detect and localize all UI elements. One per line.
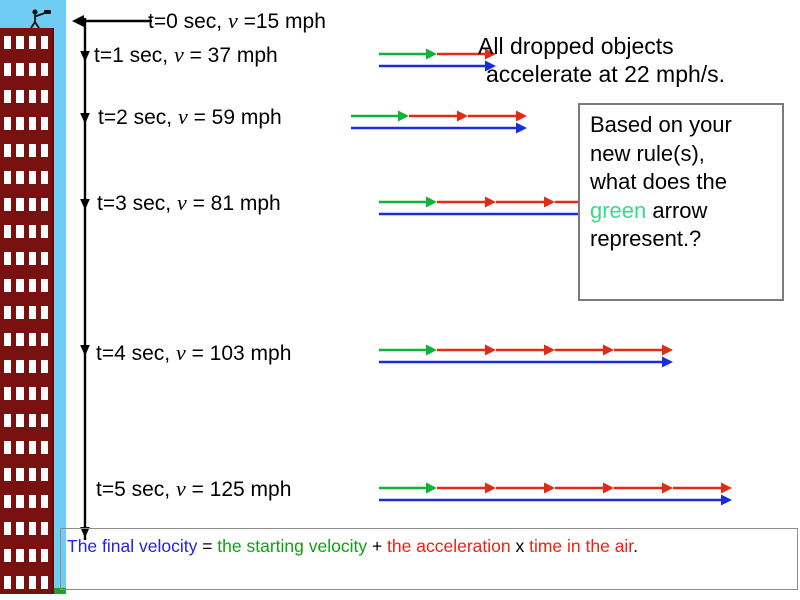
time-label-t4: t=4 sec, v = 103 mph (96, 342, 291, 364)
red-acceleration-arrow-1 (437, 345, 496, 356)
building-window (4, 360, 11, 373)
building-window (4, 495, 11, 508)
t2-velocity-text: = 59 mph (188, 106, 282, 129)
building-window (29, 441, 36, 454)
building-window (4, 306, 11, 319)
red-acceleration-arrow-4 (614, 483, 673, 494)
building-window (16, 225, 23, 238)
building-window (41, 522, 48, 535)
green-starting-velocity-arrow (351, 111, 409, 122)
caption-time-in-air: time in the air (529, 536, 633, 556)
building-window (41, 63, 48, 76)
building-window (41, 306, 48, 319)
building-window (16, 171, 23, 184)
t0-velocity-text: =15 mph (238, 10, 326, 33)
green-starting-velocity-arrow (379, 483, 437, 494)
building-windows (0, 32, 52, 594)
building-window (41, 333, 48, 346)
building-window (16, 63, 23, 76)
building-window (41, 144, 48, 157)
t5-time-text: t=5 sec, (96, 478, 170, 501)
building-window (29, 522, 36, 535)
t5-velocity-symbol: v (176, 476, 186, 501)
building-window (29, 333, 36, 346)
red-acceleration-arrow-2 (496, 197, 555, 208)
t3-velocity-text: = 81 mph (187, 192, 281, 215)
question-line-4: green arrow (590, 197, 778, 226)
building-window (16, 414, 23, 427)
t4-velocity-text: = 103 mph (186, 342, 292, 365)
red-acceleration-arrow-4 (614, 345, 673, 356)
green-starting-velocity-arrow (379, 345, 437, 356)
time-label-t0: t=0 sec, v =15 mph (148, 10, 326, 32)
building-window (41, 36, 48, 49)
headline-line-2: accelerate at 22 mph/s. (478, 60, 796, 88)
red-acceleration-arrow-3 (555, 345, 614, 356)
caption-equals: = (197, 536, 217, 556)
building-window (29, 90, 36, 103)
building-window (16, 495, 23, 508)
building-window (29, 144, 36, 157)
vector-arrows-t5 (378, 480, 738, 506)
building-window (41, 252, 48, 265)
building-window (16, 279, 23, 292)
t2-time-text: t=2 sec, (98, 106, 172, 129)
building-window (16, 387, 23, 400)
stick-figure-on-roof-icon (26, 6, 52, 30)
building-window (29, 387, 36, 400)
vector-arrows-t2 (350, 108, 533, 134)
building-window (16, 36, 23, 49)
building-window (29, 468, 36, 481)
building-window (4, 576, 11, 589)
building-window (29, 117, 36, 130)
question-box: Based on your new rule(s), what does the… (578, 103, 784, 301)
building-window (16, 306, 23, 319)
building-window (41, 468, 48, 481)
building-window (4, 279, 11, 292)
building-window (16, 198, 23, 211)
caption-starting-velocity: the starting velocity (217, 536, 367, 556)
building-window (4, 387, 11, 400)
building-window (29, 360, 36, 373)
vector-arrows-t4 (378, 342, 679, 368)
red-acceleration-arrow-5 (673, 483, 732, 494)
building-window (29, 198, 36, 211)
t1-velocity-text: = 37 mph (184, 44, 278, 67)
building-window (4, 522, 11, 535)
building-window (29, 576, 36, 589)
building-window (41, 549, 48, 562)
vector-row-t4 (378, 342, 679, 368)
building-window (41, 576, 48, 589)
fall-timeline-axis (78, 18, 96, 540)
building-window (41, 117, 48, 130)
red-acceleration-arrow-2 (496, 345, 555, 356)
t1-time-text: t=1 sec, (94, 44, 168, 67)
slide-canvas: t=0 sec, v =15 mph t=1 sec, v = 37 mph t… (0, 0, 800, 600)
caption-acceleration: the acceleration (387, 536, 511, 556)
time-label-t2: t=2 sec, v = 59 mph (98, 106, 282, 128)
building-window (29, 279, 36, 292)
building-window (4, 90, 11, 103)
building-window (16, 441, 23, 454)
time-label-t1: t=1 sec, v = 37 mph (94, 44, 278, 66)
building-window (16, 576, 23, 589)
building-window (4, 225, 11, 238)
red-acceleration-arrow-1 (437, 483, 496, 494)
building-window (4, 63, 11, 76)
t0-velocity-symbol: v (228, 8, 238, 33)
building-window (41, 198, 48, 211)
t4-velocity-symbol: v (176, 340, 186, 365)
t3-time-text: t=3 sec, (97, 192, 171, 215)
t2-velocity-symbol: v (178, 104, 188, 129)
building-window (41, 279, 48, 292)
question-line-1: Based on your (590, 111, 778, 140)
building-window (29, 495, 36, 508)
building-window (29, 414, 36, 427)
building-window (41, 171, 48, 184)
caption-plus: + (367, 536, 387, 556)
question-line-4-rest: arrow (646, 198, 707, 223)
building-window (41, 90, 48, 103)
caption-period: . (633, 536, 638, 556)
building-window (16, 117, 23, 130)
building-window (4, 333, 11, 346)
building-window (41, 495, 48, 508)
building-graphic (0, 28, 54, 594)
building-window (4, 468, 11, 481)
question-line-2: new rule(s), (590, 140, 778, 169)
building-window (4, 117, 11, 130)
building-window (41, 441, 48, 454)
building-window (16, 333, 23, 346)
building-window (29, 36, 36, 49)
building-window (16, 468, 23, 481)
building-window (16, 522, 23, 535)
building-window (41, 387, 48, 400)
building-window (4, 198, 11, 211)
building-window (29, 171, 36, 184)
caption-times: x (511, 536, 529, 556)
caption-final-velocity: The final velocity (67, 536, 197, 556)
building-window (4, 441, 11, 454)
question-line-3: what does the (590, 168, 778, 197)
time-label-t3: t=3 sec, v = 81 mph (97, 192, 281, 214)
blue-final-velocity-arrow (379, 357, 673, 368)
building-window (4, 171, 11, 184)
green-starting-velocity-arrow (379, 49, 437, 60)
vector-row-t2 (350, 108, 533, 134)
building-window (41, 225, 48, 238)
building-window (16, 360, 23, 373)
red-acceleration-arrow-3 (555, 483, 614, 494)
building-window (16, 90, 23, 103)
red-acceleration-arrow-2 (468, 111, 527, 122)
headline-text: All dropped objects accelerate at 22 mph… (478, 32, 796, 89)
vector-row-t5 (378, 480, 738, 506)
building-window (29, 63, 36, 76)
question-green-word: green (590, 198, 646, 223)
t0-time-text: t=0 sec, (148, 10, 222, 33)
t3-velocity-symbol: v (177, 190, 187, 215)
t5-velocity-text: = 125 mph (186, 478, 292, 501)
question-line-5: represent.? (590, 225, 778, 254)
blue-final-velocity-arrow (379, 495, 732, 506)
building-window (4, 414, 11, 427)
red-acceleration-arrow-1 (437, 197, 496, 208)
building-window (16, 549, 23, 562)
building-window (41, 360, 48, 373)
building-window (4, 144, 11, 157)
building-window (16, 144, 23, 157)
headline-line-1: All dropped objects (478, 33, 674, 59)
building-window (4, 549, 11, 562)
blue-final-velocity-arrow (351, 123, 527, 134)
formula-caption: The final velocity = the starting veloci… (60, 528, 798, 590)
building-window (29, 549, 36, 562)
building-window (41, 414, 48, 427)
red-acceleration-arrow-1 (409, 111, 468, 122)
t4-time-text: t=4 sec, (96, 342, 170, 365)
t0-left-pointer-arrow (72, 12, 152, 34)
building-window (16, 252, 23, 265)
time-label-t5: t=5 sec, v = 125 mph (96, 478, 291, 500)
t1-velocity-symbol: v (174, 42, 184, 67)
green-starting-velocity-arrow (379, 197, 437, 208)
building-window (4, 36, 11, 49)
building-window (29, 306, 36, 319)
red-acceleration-arrow-2 (496, 483, 555, 494)
building-window (29, 225, 36, 238)
building-window (29, 252, 36, 265)
building-window (4, 252, 11, 265)
